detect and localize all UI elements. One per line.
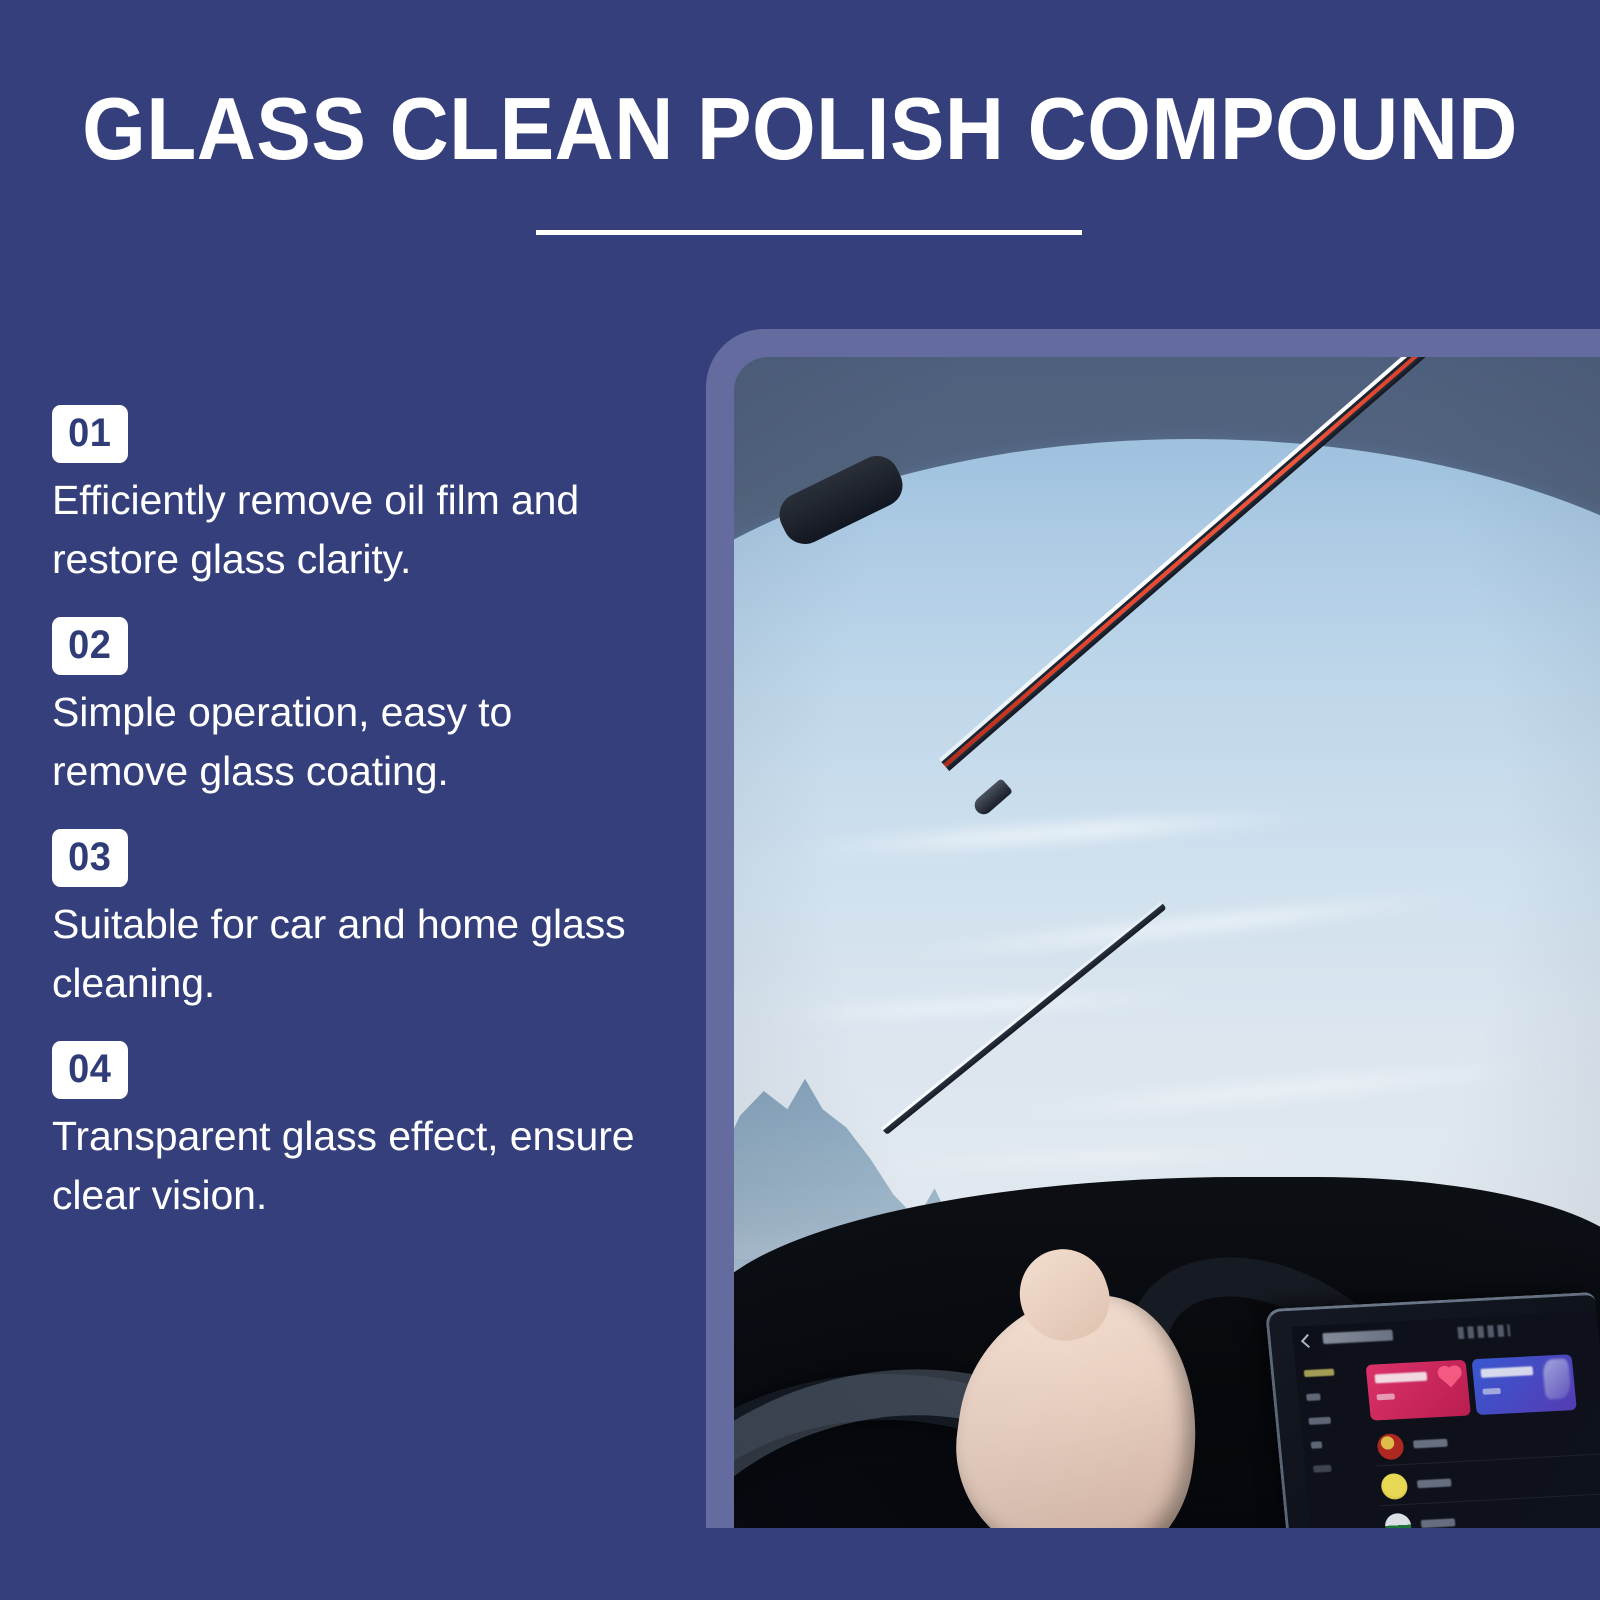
feature-number-badge: 03 <box>52 829 128 887</box>
row-label <box>1413 1439 1448 1449</box>
row-label <box>1417 1479 1452 1489</box>
driving-scene <box>734 357 1600 1528</box>
title-divider <box>536 230 1082 235</box>
tile-glyph-icon <box>1542 1358 1572 1399</box>
sidebar-item[interactable] <box>1311 1441 1323 1449</box>
feature-list: 01 Efficiently remove oil film and resto… <box>0 405 700 1253</box>
tile-label <box>1375 1372 1428 1384</box>
tile-sublabel <box>1482 1388 1501 1395</box>
screen-tile-pink[interactable] <box>1366 1360 1471 1421</box>
sidebar-item[interactable] <box>1306 1393 1321 1401</box>
tile-sublabel <box>1376 1393 1395 1400</box>
windshield-photo <box>734 357 1600 1528</box>
list-item: 04 Transparent glass effect, ensure clea… <box>0 1041 700 1225</box>
page-title: GLASS CLEAN POLISH COMPOUND <box>56 76 1544 182</box>
feature-description: Efficiently remove oil film and restore … <box>52 471 652 589</box>
app-icon <box>1376 1433 1404 1460</box>
infotainment-screen[interactable] <box>1265 1292 1600 1528</box>
screen-title-text <box>1322 1330 1393 1345</box>
heart-icon <box>1440 1368 1460 1388</box>
list-item: 02 Simple operation, easy to remove glas… <box>0 617 700 801</box>
tile-label <box>1480 1366 1533 1378</box>
sidebar-item[interactable] <box>1308 1417 1331 1425</box>
list-item: 01 Efficiently remove oil film and resto… <box>0 405 700 589</box>
feature-description: Simple operation, easy to remove glass c… <box>52 683 652 801</box>
app-icon <box>1384 1513 1412 1528</box>
screen-topbar <box>1302 1319 1589 1352</box>
row-label <box>1421 1518 1456 1528</box>
smiley-icon <box>1380 1473 1408 1500</box>
feature-number-badge: 02 <box>52 617 128 675</box>
status-indicator <box>1457 1324 1510 1339</box>
sidebar-item[interactable] <box>1313 1465 1332 1473</box>
list-item: 03 Suitable for car and home glass clean… <box>0 829 700 1013</box>
feature-description: Transparent glass effect, ensure clear v… <box>52 1107 652 1225</box>
sidebar-item[interactable] <box>1304 1369 1335 1378</box>
feature-number-badge: 01 <box>52 405 128 463</box>
feature-description: Suitable for car and home glass cleaning… <box>52 895 652 1013</box>
screen-content <box>1292 1311 1600 1528</box>
back-chevron-icon[interactable] <box>1301 1334 1315 1348</box>
header: GLASS CLEAN POLISH COMPOUND <box>0 0 1600 300</box>
product-photo-panel <box>706 329 1600 1528</box>
screen-sidebar-menu[interactable] <box>1304 1368 1359 1490</box>
feature-number-badge: 04 <box>52 1041 128 1099</box>
screen-tile-blue[interactable] <box>1472 1354 1577 1415</box>
